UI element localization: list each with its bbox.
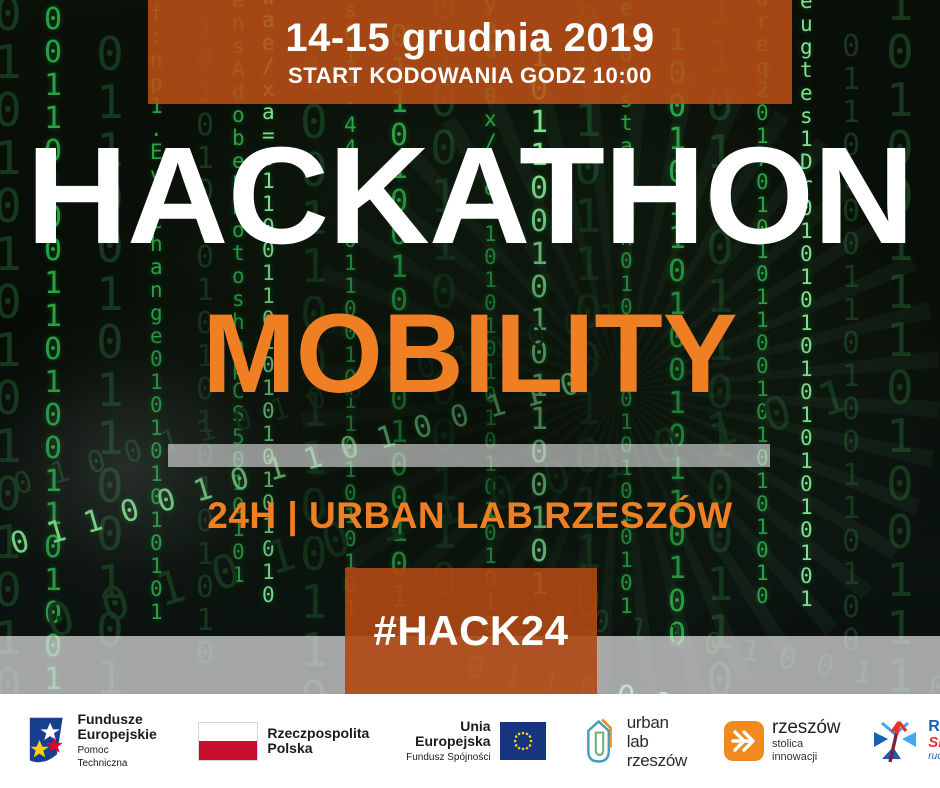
polish-flag-icon (198, 722, 258, 761)
logo-urban-lab-rzeszow: urban lab rzeszów (546, 710, 690, 772)
divider-bar (168, 444, 770, 467)
urban-lab-text: urban lab rzeszów (627, 713, 690, 770)
logo-line-1: Unia Europejska (403, 719, 490, 749)
logo-rzeszow-stolica-innowacji: rzeszów stolica innowacji (690, 710, 840, 772)
event-start-time: START KODOWANIA GODZ 10:00 (288, 63, 652, 89)
logo-sub: Pomoc Techniczna (77, 744, 158, 770)
logo-line-3: ruch miejski (928, 751, 940, 763)
smart-city-text: RZESZÓW Smart City ruch miejski (928, 719, 940, 763)
rzeszow-text: rzeszów stolica innowacji (772, 718, 840, 764)
logo-line-1: RZESZÓW (928, 719, 940, 735)
fundusze-europejskie-text: Fundusze Europejskie Pomoc Techniczna (77, 712, 158, 770)
logo-rzeczpospolita-polska: Rzeczpospolita Polska (158, 710, 369, 772)
hackathon-poster: 0 1 0 1 0 1 0 1 0 1 0 1 0 1 0 1 0 1 0 0 … (0, 0, 940, 788)
logo-line-2: rzeszów (627, 751, 690, 770)
logo-line-1: Rzeczpospolita (267, 726, 369, 741)
hashtag-label: #HACK24 (374, 607, 569, 655)
unia-europejska-text: Unia Europejska Fundusz Spójności (403, 719, 490, 764)
urban-lab-drop-icon (580, 714, 619, 768)
eu-flag-icon (500, 722, 546, 760)
logo-unia-europejska: Unia Europejska Fundusz Spójności (369, 710, 545, 772)
sponsor-logo-bar: Fundusze Europejskie Pomoc Techniczna Rz… (0, 694, 940, 788)
logo-line-2: Polska (267, 741, 369, 756)
event-date: 14-15 grudnia 2019 (285, 15, 654, 61)
headline-block: HACKATHON MOBILITY (0, 132, 940, 410)
event-venue: 24H | URBAN LAB RZESZÓW (0, 495, 940, 537)
logo-line-1: urban lab (627, 713, 690, 751)
page-title: HACKATHON (0, 132, 940, 260)
fundusze-europejskie-icon (24, 715, 68, 767)
logo-sub: Fundusz Spójności (406, 751, 491, 764)
logo-line-1: Fundusze (77, 712, 158, 727)
logo-line-1: rzeszów (772, 718, 840, 738)
rzeszow-arrow-icon (724, 721, 764, 761)
smart-city-arrows-icon (868, 714, 922, 768)
logo-sub: stolica innowacji (772, 738, 840, 764)
hashtag-box: #HACK24 (345, 568, 597, 694)
logo-rzeszow-smart-city: RZESZÓW Smart City ruch miejski (840, 710, 940, 772)
logo-line-2: Europejskie (77, 727, 158, 742)
logo-line-2: Smart City (928, 735, 940, 751)
rzeczpospolita-text: Rzeczpospolita Polska (267, 726, 369, 756)
date-banner: 14-15 grudnia 2019 START KODOWANIA GODZ … (148, 0, 792, 104)
page-subtitle-theme: MOBILITY (0, 298, 940, 410)
logo-fundusze-europejskie: Fundusze Europejskie Pomoc Techniczna (0, 710, 158, 772)
